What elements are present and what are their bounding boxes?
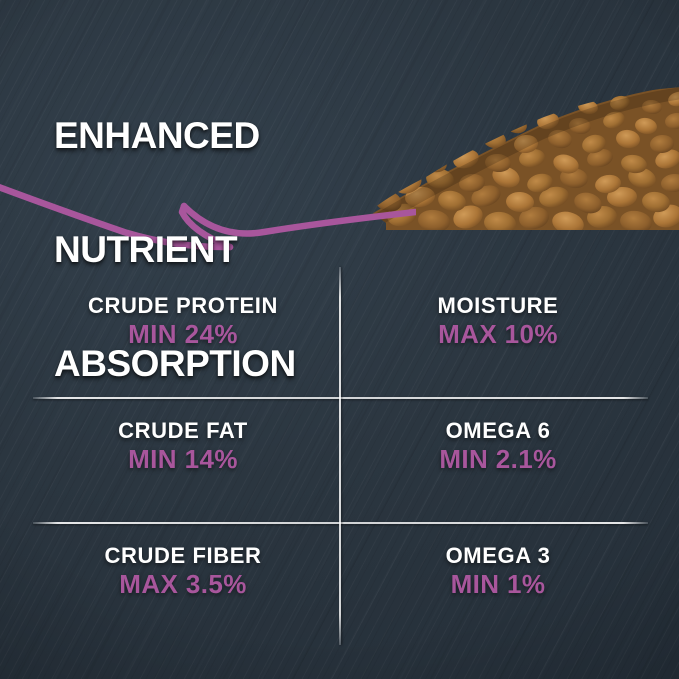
nutrient-value: MAX 3.5%	[33, 569, 333, 600]
nutrient-label: CRUDE FIBER	[33, 542, 333, 569]
nutrient-value: MIN 2.1%	[348, 444, 648, 475]
table-cell-crude-fiber: CRUDE FIBER MAX 3.5%	[33, 542, 333, 600]
nutrition-table: CRUDE PROTEIN MIN 24% MOISTURE MAX 10% C…	[33, 264, 648, 646]
headline-line-1: ENHANCED	[54, 117, 296, 155]
table-cell-crude-fat: CRUDE FAT MIN 14%	[33, 417, 333, 475]
nutrient-value: MAX 10%	[348, 319, 648, 350]
table-cell-moisture: MOISTURE MAX 10%	[348, 292, 648, 350]
table-cell-crude-protein: CRUDE PROTEIN MIN 24%	[33, 292, 333, 350]
nutrient-label: MOISTURE	[348, 292, 648, 319]
nutrient-label: OMEGA 3	[348, 542, 648, 569]
nutrition-poster: ENHANCED NUTRIENT ABSORPTION CRUDE PROTE…	[0, 0, 679, 679]
nutrient-value: MIN 1%	[348, 569, 648, 600]
table-cell-omega-3: OMEGA 3 MIN 1%	[348, 542, 648, 600]
nutrient-label: OMEGA 6	[348, 417, 648, 444]
table-cell-omega-6: OMEGA 6 MIN 2.1%	[348, 417, 648, 475]
nutrient-value: MIN 14%	[33, 444, 333, 475]
nutrient-label: CRUDE FAT	[33, 417, 333, 444]
nutrient-label: CRUDE PROTEIN	[33, 292, 333, 319]
nutrient-value: MIN 24%	[33, 319, 333, 350]
table-divider-vertical	[339, 267, 341, 645]
